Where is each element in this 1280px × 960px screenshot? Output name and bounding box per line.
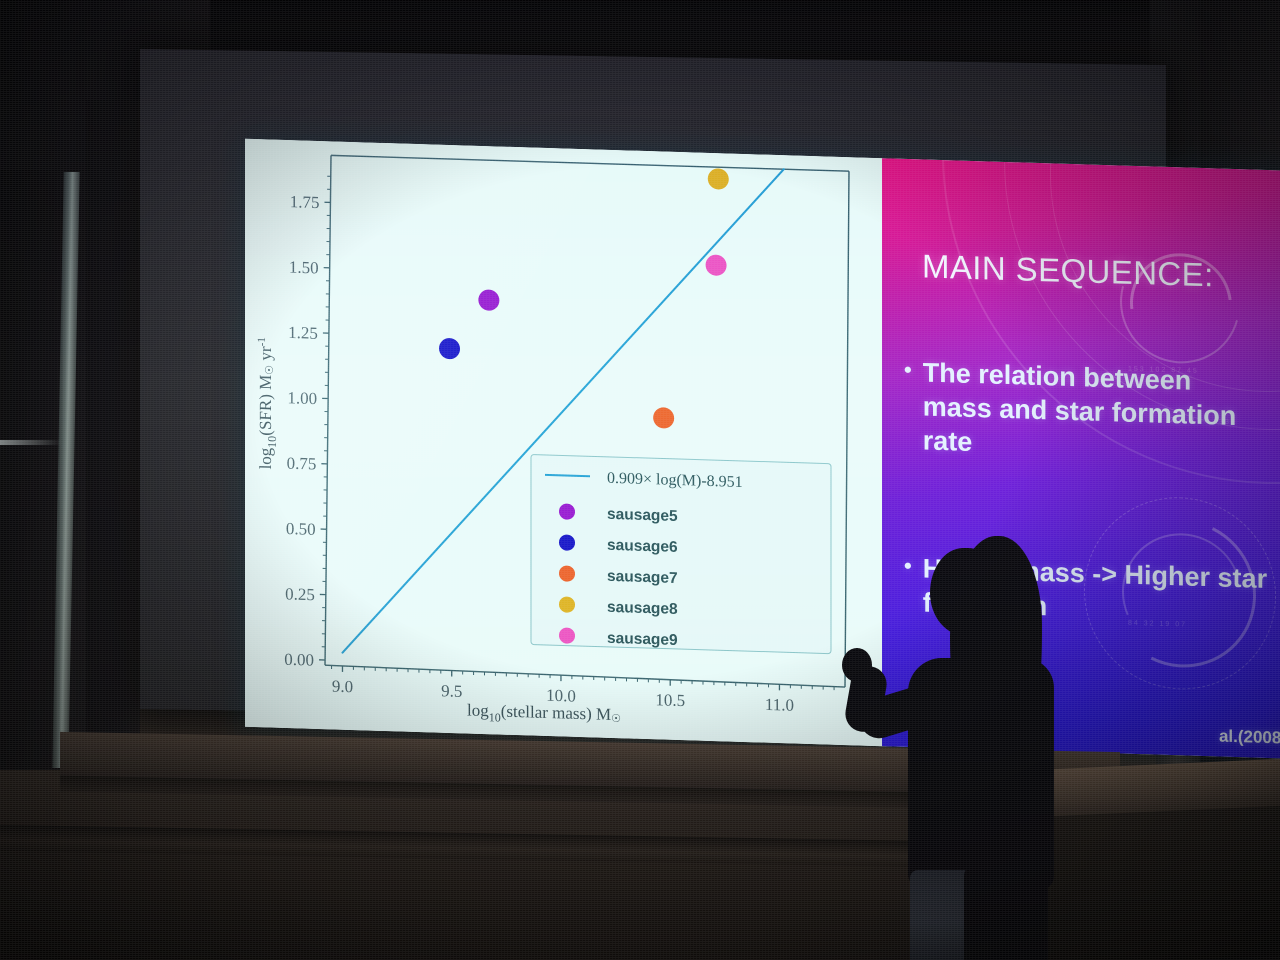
y-tick-label: 0.00: [284, 650, 314, 670]
x-tick-label: 9.0: [332, 677, 353, 697]
y-tick-label: 0.75: [287, 454, 317, 474]
y-tick-label: 1.00: [287, 388, 317, 408]
x-tick-label: 11.0: [765, 695, 794, 715]
y-tick-label: 0.25: [285, 584, 315, 604]
slide-bullet-1: • The relation between mass and star for…: [904, 355, 1264, 468]
legend-label-sausage8: sausage8: [607, 599, 678, 618]
x-tick-label: 10.5: [655, 690, 685, 710]
presenter-hip-shadow: [964, 864, 1048, 960]
left-light-reflection: [0, 440, 62, 445]
legend-label-sausage9: sausage9: [607, 630, 678, 649]
slide-title: MAIN SEQUENCE:: [922, 247, 1214, 294]
presenter-hand: [842, 648, 872, 682]
slide-citation: al.(2008): [1219, 727, 1280, 749]
left-wall-post: [86, 100, 140, 790]
lecture-hall-photo: 0.000.250.500.751.001.251.501.75 9.09.51…: [0, 0, 1280, 960]
x-tick-label: 9.5: [441, 681, 462, 701]
y-tick-label: 0.50: [286, 519, 316, 539]
bullet-point-icon: •: [904, 355, 912, 457]
chart-legend: 0.909× log(M)-8.951 sausage5sausage6saus…: [531, 454, 831, 653]
y-tick-label: 1.75: [290, 192, 320, 212]
legend-label-sausage7: sausage7: [607, 568, 678, 587]
slide-bullet-1-text: The relation between mass and star forma…: [923, 355, 1264, 467]
legend-label-sausage6: sausage6: [607, 537, 678, 556]
legend-label-sausage5: sausage5: [607, 506, 678, 525]
sfr-vs-stellar-mass-scatter-plot: 0.000.250.500.751.001.251.501.75 9.09.51…: [245, 139, 882, 746]
presenter-silhouette: [826, 520, 1126, 960]
y-tick-label: 1.50: [289, 258, 319, 278]
chart-panel: 0.000.250.500.751.001.251.501.75 9.09.51…: [245, 139, 882, 746]
legend-fit-line-swatch: [545, 475, 590, 476]
y-tick-label: 1.25: [288, 323, 318, 343]
